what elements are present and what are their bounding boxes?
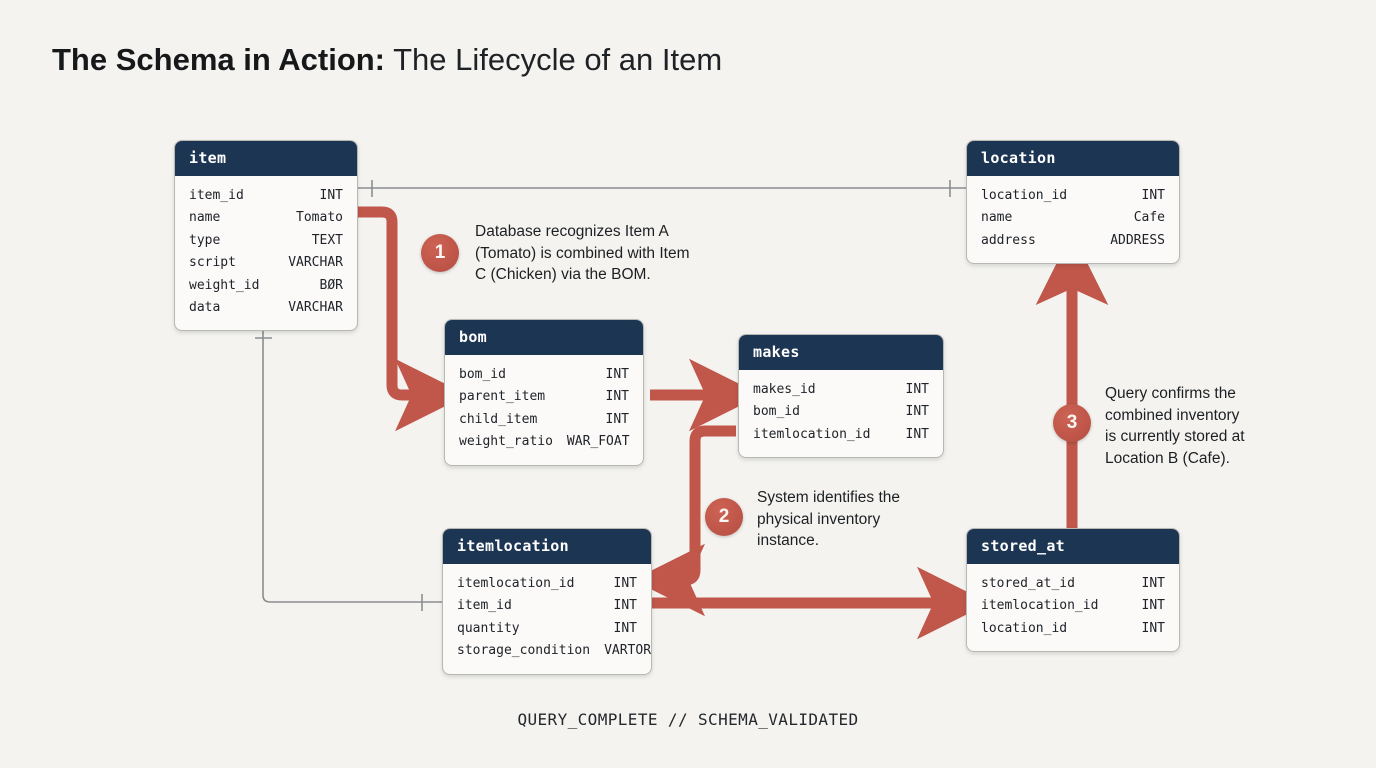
arrow-item-to-bom	[358, 212, 428, 395]
table-row: bom_id INT	[753, 401, 929, 423]
field-type: INT	[600, 595, 637, 617]
field-type: BØR	[306, 275, 343, 297]
field-name: script	[189, 252, 236, 274]
table-row: address ADDRESS	[981, 230, 1165, 252]
entity-table-location-title: location	[967, 141, 1179, 176]
entity-table-item[interactable]: item item_id INT name Tomato type TEXT s…	[174, 140, 358, 331]
entity-table-itemlocation-fields: itemlocation_id INT item_id INT quantity…	[443, 564, 651, 674]
step-badge-1-number: 1	[435, 242, 446, 264]
field-type: ADDRESS	[1096, 230, 1165, 252]
table-row: weight_ratio WAR_FOAT	[459, 431, 629, 453]
field-type: VARCHAR	[274, 252, 343, 274]
entity-table-makes[interactable]: makes makes_id INT bom_id INT itemlocati…	[738, 334, 944, 458]
field-name: type	[189, 230, 220, 252]
field-type: VARCHAR	[274, 297, 343, 319]
field-type: INT	[892, 379, 929, 401]
field-name: item_id	[457, 595, 512, 617]
field-name: location_id	[981, 618, 1067, 640]
table-row: script VARCHAR	[189, 252, 343, 274]
field-type: INT	[1128, 595, 1165, 617]
field-type: INT	[600, 573, 637, 595]
table-row: itemlocation_id INT	[753, 424, 929, 446]
field-type: Cafe	[1120, 207, 1165, 229]
entity-table-stored-at-title: stored_at	[967, 529, 1179, 564]
status-footer: QUERY_COMPLETE // SCHEMA_VALIDATED	[0, 710, 1376, 729]
field-name: address	[981, 230, 1036, 252]
field-name: item_id	[189, 185, 244, 207]
field-name: weight_ratio	[459, 431, 553, 453]
step-callout-1: Database recognizes Item A (Tomato) is c…	[475, 221, 735, 286]
table-row: itemlocation_id INT	[981, 595, 1165, 617]
field-type: Tomato	[282, 207, 343, 229]
step-badge-2: 2	[705, 498, 743, 536]
field-name: child_item	[459, 409, 537, 431]
field-name: name	[981, 207, 1012, 229]
field-name: bom_id	[753, 401, 800, 423]
field-type: INT	[892, 424, 929, 446]
table-row: makes_id INT	[753, 379, 929, 401]
step-badge-3-number: 3	[1067, 412, 1078, 434]
field-type: INT	[592, 386, 629, 408]
field-type: INT	[892, 401, 929, 423]
field-type: VARTOR	[590, 640, 651, 662]
entity-table-location-fields: location_id INT name Cafe address ADDRES…	[967, 176, 1179, 263]
field-name: weight_id	[189, 275, 259, 297]
table-row: stored_at_id INT	[981, 573, 1165, 595]
table-row: name Tomato	[189, 207, 343, 229]
entity-table-itemlocation[interactable]: itemlocation itemlocation_id INT item_id…	[442, 528, 652, 675]
field-name: name	[189, 207, 220, 229]
table-row: type TEXT	[189, 230, 343, 252]
entity-table-item-fields: item_id INT name Tomato type TEXT script…	[175, 176, 357, 330]
entity-table-stored-at[interactable]: stored_at stored_at_id INT itemlocation_…	[966, 528, 1180, 652]
field-name: itemlocation_id	[753, 424, 870, 446]
table-row: child_item INT	[459, 409, 629, 431]
table-row: item_id INT	[189, 185, 343, 207]
field-type: INT	[1128, 618, 1165, 640]
field-type: INT	[1128, 573, 1165, 595]
table-row: location_id INT	[981, 185, 1165, 207]
field-type: INT	[306, 185, 343, 207]
table-row: storage_condition VARTOR	[457, 640, 637, 662]
table-row: item_id INT	[457, 595, 637, 617]
field-name: itemlocation_id	[981, 595, 1098, 617]
step-badge-1: 1	[421, 234, 459, 272]
field-type: TEXT	[298, 230, 343, 252]
table-row: location_id INT	[981, 618, 1165, 640]
page-title: The Schema in Action: The Lifecycle of a…	[52, 38, 722, 82]
field-type: WAR_FOAT	[553, 431, 630, 453]
entity-table-stored-at-fields: stored_at_id INT itemlocation_id INT loc…	[967, 564, 1179, 651]
step-badge-3: 3	[1053, 404, 1091, 442]
table-row: bom_id INT	[459, 364, 629, 386]
field-name: parent_item	[459, 386, 545, 408]
field-type: INT	[600, 618, 637, 640]
step-callout-2: System identifies the physical inventory…	[757, 487, 957, 552]
field-name: stored_at_id	[981, 573, 1075, 595]
page-title-light: The Lifecycle of an Item	[385, 42, 722, 77]
field-name: makes_id	[753, 379, 816, 401]
field-name: storage_condition	[457, 640, 590, 662]
field-name: quantity	[457, 618, 520, 640]
field-type: INT	[592, 409, 629, 431]
table-row: quantity INT	[457, 618, 637, 640]
field-name: bom_id	[459, 364, 506, 386]
table-row: name Cafe	[981, 207, 1165, 229]
step-badge-2-number: 2	[719, 506, 730, 528]
table-row: parent_item INT	[459, 386, 629, 408]
table-row: data VARCHAR	[189, 297, 343, 319]
link-item-itemlocation	[263, 323, 442, 602]
step-callout-3: Query confirms the combined inventory is…	[1105, 383, 1335, 469]
table-row: itemlocation_id INT	[457, 573, 637, 595]
entity-table-bom-fields: bom_id INT parent_item INT child_item IN…	[445, 355, 643, 465]
entity-table-location[interactable]: location location_id INT name Cafe addre…	[966, 140, 1180, 264]
field-type: INT	[1128, 185, 1165, 207]
entity-table-itemlocation-title: itemlocation	[443, 529, 651, 564]
entity-table-makes-title: makes	[739, 335, 943, 370]
field-name: location_id	[981, 185, 1067, 207]
field-name: itemlocation_id	[457, 573, 574, 595]
entity-table-bom[interactable]: bom bom_id INT parent_item INT child_ite…	[444, 319, 644, 466]
field-name: data	[189, 297, 220, 319]
entity-table-item-title: item	[175, 141, 357, 176]
table-row: weight_id BØR	[189, 275, 343, 297]
entity-table-makes-fields: makes_id INT bom_id INT itemlocation_id …	[739, 370, 943, 457]
page-title-strong: The Schema in Action:	[52, 42, 385, 77]
entity-table-bom-title: bom	[445, 320, 643, 355]
diagram-canvas: The Schema in Action: The Lifecycle of a…	[0, 0, 1376, 768]
field-type: INT	[592, 364, 629, 386]
